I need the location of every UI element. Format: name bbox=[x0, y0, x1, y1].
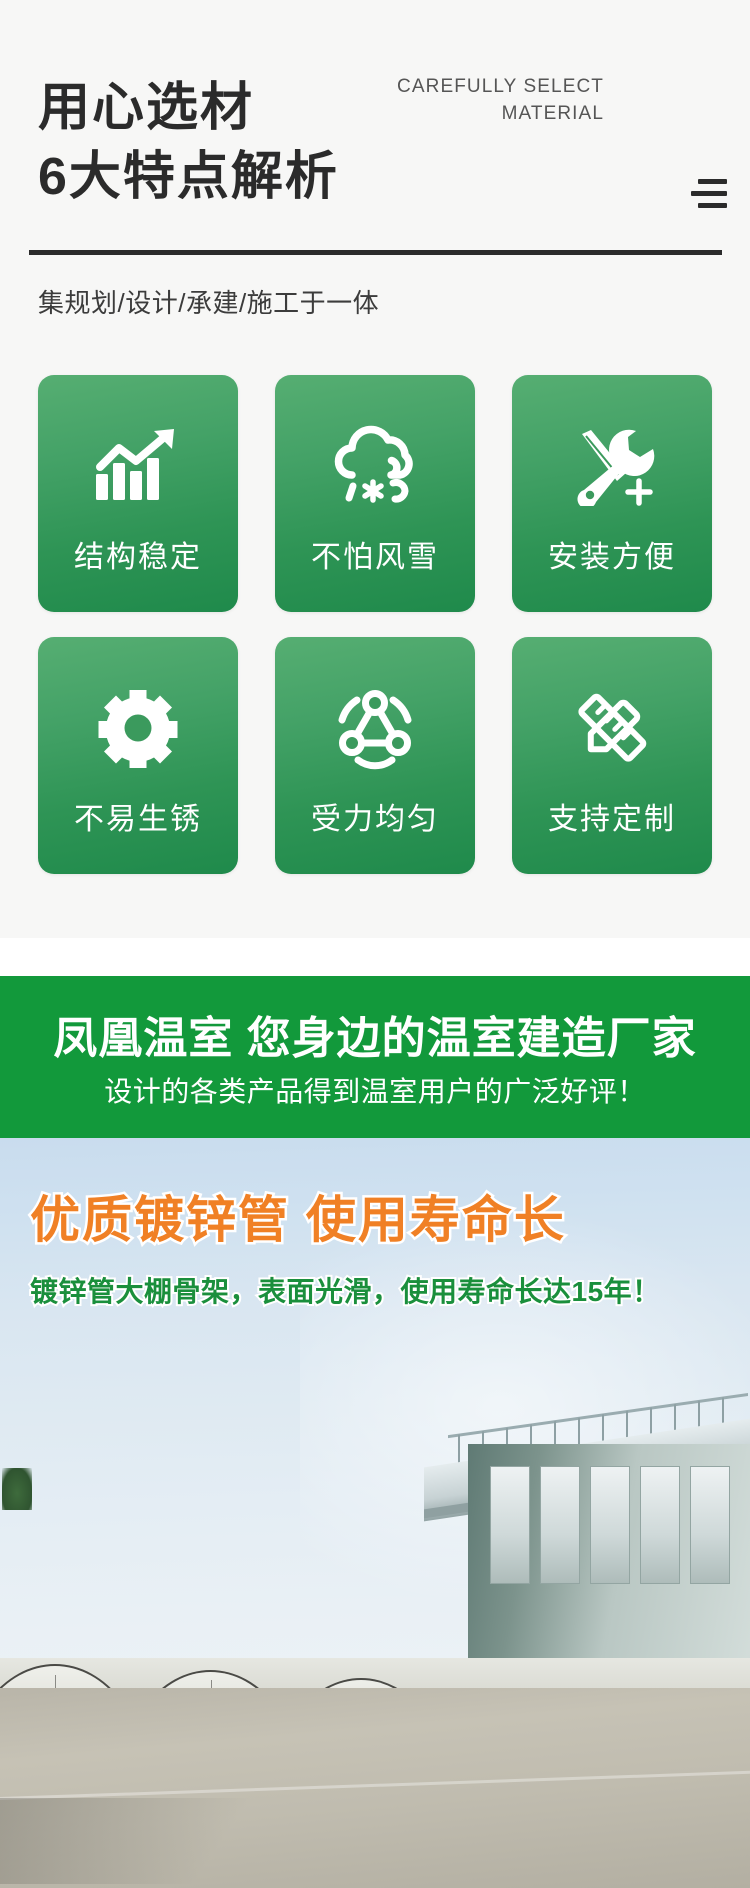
paved-road bbox=[0, 1688, 750, 1888]
green-banner-section: 凤凰温室 您身边的温室建造厂家 设计的各类产品得到温室用户的广泛好评！ bbox=[0, 976, 750, 1138]
promo-page: 用心选材 6大特点解析 CAREFULLY SELECT MATERIAL 集规… bbox=[0, 0, 750, 1888]
feature-card[interactable]: 结构稳定 bbox=[38, 375, 238, 612]
gear-icon bbox=[38, 675, 238, 780]
building-window bbox=[490, 1466, 530, 1584]
feature-card[interactable]: 安装方便 bbox=[512, 375, 712, 612]
building-facade bbox=[468, 1444, 750, 1694]
feature-card-grid: 结构稳定 不怕风雪 bbox=[38, 375, 713, 874]
hamburger-bar-top bbox=[698, 179, 727, 184]
building-window bbox=[540, 1466, 580, 1584]
greenhouse-photo-section: 优质镀锌管 使用寿命长 镀锌管大棚骨架，表面光滑，使用寿命长达15年！ bbox=[0, 1138, 750, 1888]
feature-card-label: 安装方便 bbox=[512, 532, 712, 576]
feature-card-label: 不易生锈 bbox=[38, 794, 238, 838]
triangle-nodes-icon bbox=[275, 675, 475, 780]
english-caption: CAREFULLY SELECT MATERIAL bbox=[304, 74, 604, 128]
features-section: 用心选材 6大特点解析 CAREFULLY SELECT MATERIAL 集规… bbox=[0, 0, 750, 938]
ruler-pencil-icon bbox=[512, 675, 712, 780]
bar-chart-growth-icon bbox=[38, 413, 238, 518]
page-title: 用心选材 6大特点解析 bbox=[38, 78, 339, 209]
feature-card-label: 支持定制 bbox=[512, 794, 712, 838]
english-caption-line2: MATERIAL bbox=[304, 101, 604, 128]
banner-subtitle: 设计的各类产品得到温室用户的广泛好评！ bbox=[0, 1070, 750, 1110]
hamburger-bar-bottom bbox=[698, 203, 727, 208]
road-seam-line bbox=[0, 1771, 750, 1800]
hamburger-menu-icon[interactable] bbox=[691, 179, 727, 209]
photo-subtitle: 镀锌管大棚骨架，表面光滑，使用寿命长达15年！ bbox=[30, 1270, 661, 1310]
header-divider bbox=[29, 250, 722, 255]
tree-shape bbox=[2, 1468, 32, 1510]
hamburger-bar-middle bbox=[691, 191, 727, 196]
office-building bbox=[424, 1356, 750, 1686]
feature-card[interactable]: 不怕风雪 bbox=[275, 375, 475, 612]
page-title-line2: 6大特点解析 bbox=[38, 147, 339, 208]
header-subtitle: 集规划/设计/承建/施工于一体 bbox=[38, 283, 379, 320]
building-window bbox=[590, 1466, 630, 1584]
feature-card[interactable]: 支持定制 bbox=[512, 637, 712, 874]
feature-card[interactable]: 不易生锈 bbox=[38, 637, 238, 874]
feature-card[interactable]: 受力均匀 bbox=[275, 637, 475, 874]
feature-card-label: 不怕风雪 bbox=[275, 532, 475, 576]
feature-card-label: 受力均匀 bbox=[275, 794, 475, 838]
banner-title: 凤凰温室 您身边的温室建造厂家 bbox=[0, 1002, 750, 1066]
building-window bbox=[690, 1466, 730, 1584]
wrench-screwdriver-icon bbox=[512, 413, 712, 518]
building-window bbox=[640, 1466, 680, 1584]
feature-card-label: 结构稳定 bbox=[38, 532, 238, 576]
page-title-line1: 用心选材 bbox=[38, 79, 254, 137]
cloud-snow-icon bbox=[275, 413, 475, 518]
road-shadow bbox=[0, 1798, 327, 1884]
english-caption-line1: CAREFULLY SELECT bbox=[304, 74, 604, 101]
photo-title: 优质镀锌管 使用寿命长 bbox=[30, 1180, 566, 1252]
section-header: 用心选材 6大特点解析 CAREFULLY SELECT MATERIAL 集规… bbox=[0, 0, 750, 262]
greenhouse-field bbox=[0, 1658, 750, 1888]
